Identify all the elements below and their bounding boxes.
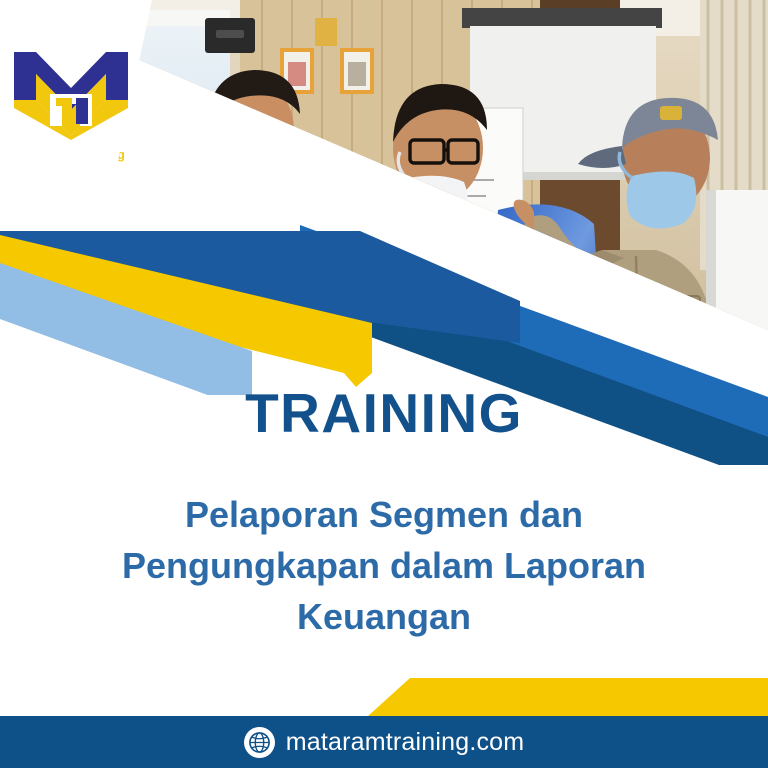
page-title: TRAINING bbox=[0, 385, 768, 443]
footer-bar: mataramtraining.com bbox=[0, 716, 768, 768]
website-url[interactable]: mataramtraining.com bbox=[286, 728, 525, 757]
yellow-accent-shape bbox=[368, 678, 768, 716]
globe-icon bbox=[244, 727, 275, 758]
page-subtitle: Pelaporan Segmen dan Pengungkapan dalam … bbox=[54, 489, 714, 642]
left-diagonal-ribbons bbox=[0, 215, 520, 395]
mataram-m-logo-icon bbox=[14, 48, 128, 158]
text-block: TRAINING Pelaporan Segmen dan Pengungkap… bbox=[0, 385, 768, 642]
training-poster: mataram training TRAINING Pelaporan Segm… bbox=[0, 0, 768, 768]
